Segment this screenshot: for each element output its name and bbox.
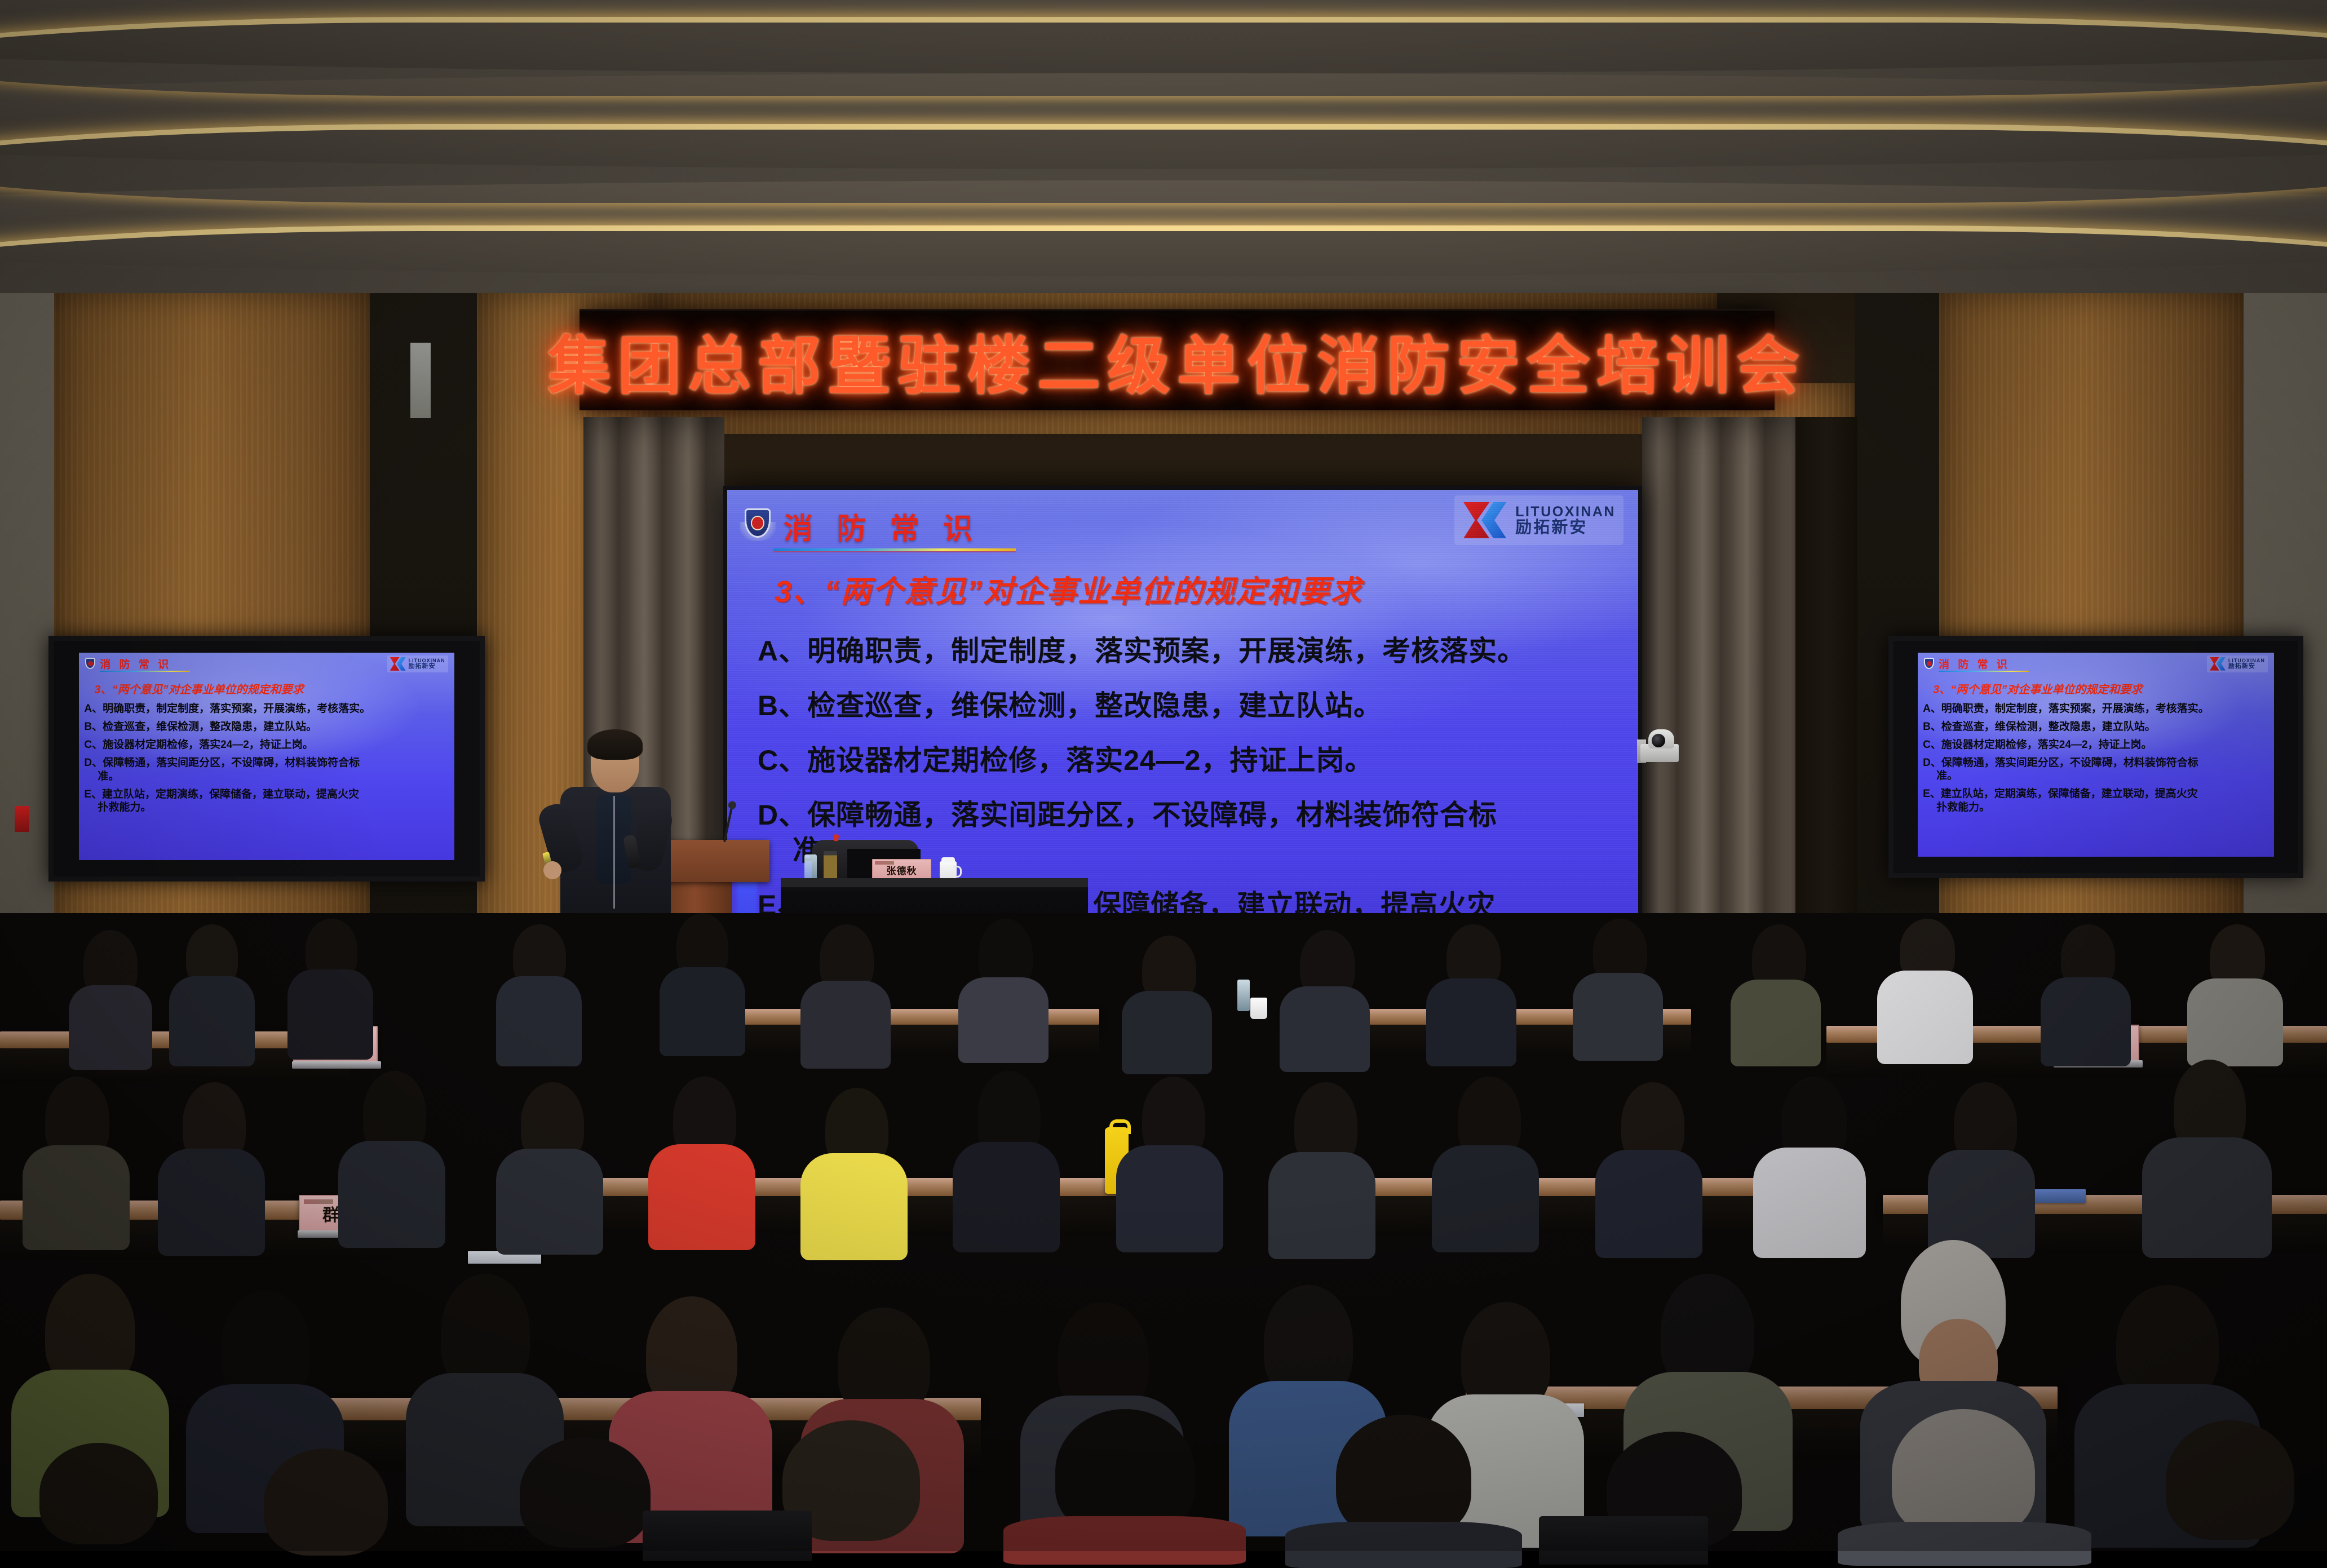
- chair-back: [643, 1511, 812, 1561]
- audience-member: [1426, 924, 1516, 1065]
- monitor-bullet-c: C、施设器材定期检修，落实24—2，持证上岗。: [1923, 738, 2269, 751]
- slide-bullet-a-text: A、明确职责，制定制度，落实预案，开展演练，考核落实。: [758, 635, 1526, 667]
- monitor-bullet-d-cont: 准。: [1936, 769, 2269, 782]
- placard-logo-icon: [304, 1199, 333, 1204]
- fire-department-badge-icon: [1923, 657, 1935, 671]
- monitor-section-heading: 3、“两个意见”对企事业单位的规定和要求: [94, 680, 449, 697]
- audience-member: [953, 1071, 1060, 1251]
- audience-member: [958, 919, 1049, 1060]
- water-bottle: [1237, 980, 1250, 1011]
- monitor-bullet-a: A、明确职责，制定制度，落实预案，开展演练，考核落实。: [1923, 702, 2269, 715]
- audience-member: [648, 1077, 755, 1246]
- monitor-header-rule: [1939, 671, 2029, 672]
- audience-member: [23, 1077, 130, 1246]
- audience-member: [1116, 1077, 1223, 1251]
- slide-header: 消 防 常 识 LITUOXINAN 励拓新安: [727, 490, 1638, 562]
- audience-member: [158, 1082, 265, 1251]
- desk-row: [1353, 1178, 1804, 1196]
- monitor-bullet-d: D、保障畅通，落实间距分区，不设障碍，材料装饰符合标 准。: [84, 756, 449, 782]
- audience-area: 机科股份 战投部 群部: [0, 913, 2327, 1551]
- fire-department-badge-icon: [84, 657, 96, 671]
- water-bottle: [804, 854, 817, 882]
- brand-logo: LITUOXINAN 励拓新安: [387, 655, 448, 672]
- audience-member: [800, 924, 891, 1065]
- slide-bullet-a: A、明确职责，制定制度，落实预案，开展演练，考核落实。: [758, 634, 1608, 669]
- fire-alarm-icon: [15, 806, 29, 832]
- brand-chinese-name: 励拓新安: [1515, 519, 1616, 536]
- audience-member: [1838, 1409, 2091, 1561]
- audience-member: [1877, 919, 1973, 1065]
- brand-chevron-icon: [1462, 500, 1507, 541]
- audience-member: [220, 1449, 434, 1561]
- audience-member: [800, 1088, 908, 1257]
- audience-member: [1003, 1409, 1246, 1556]
- monitor-bullet-b: B、检查巡查，维保检测，整改隐患，建立队站。: [84, 720, 449, 733]
- brand-chevron-icon: [390, 657, 406, 671]
- audience-member: [1285, 1415, 1522, 1556]
- monitor-section-heading: 3、“两个意见”对企事业单位的规定和要求: [1933, 680, 2269, 697]
- monitor-bullet-e: E、建立队站，定期演练，保障储备，建立联动，提高火灾 扑救能力。: [84, 788, 449, 814]
- slide-bullet-b-text: B、检查巡查，维保检测，整改隐患，建立队站。: [758, 690, 1382, 721]
- slide-bullet-b: B、检查巡查，维保检测，整改隐患，建立队站。: [758, 688, 1608, 724]
- audience-member: [2041, 924, 2131, 1065]
- ptz-camera-icon: [1640, 728, 1687, 763]
- curtain-edge: [1795, 417, 1857, 986]
- audience-member: [169, 924, 254, 1065]
- slide-bullet-c-text: C、施设器材定期检修，落实24—2，持证上岗。: [758, 745, 1374, 776]
- monitor-header-title: 消 防 常 识: [100, 656, 171, 671]
- audience-member: [496, 924, 581, 1065]
- slide-header-title: 消 防 常 识: [784, 505, 980, 547]
- led-banner: 集团总部暨驻楼二级单位消防安全培训会: [579, 309, 1775, 410]
- ceiling: [0, 0, 2327, 307]
- brand-chinese-name: 励拓新安: [409, 663, 445, 670]
- brand-chinese-name: 励拓新安: [2228, 663, 2265, 670]
- audience-member: [68, 930, 152, 1065]
- head-table-name-text: 张德秋: [887, 863, 917, 877]
- wall-pillar-left: [0, 293, 54, 958]
- audience-member: [1122, 936, 1212, 1071]
- thermos-cup: [824, 851, 837, 882]
- audience-member: [1280, 930, 1370, 1071]
- slide-section-heading: 3、“两个意见”对企事业单位的规定和要求: [775, 566, 1608, 611]
- audience-member: [1928, 1082, 2035, 1257]
- slide-header-rule: [773, 548, 1016, 551]
- audience-member: [287, 919, 372, 1060]
- side-monitor-right: 消 防 常 识 LITUOXINAN 励拓新安 3、“两个意见”对企事业单位的规…: [1888, 636, 2303, 878]
- head-table-name-placard: 张德秋: [872, 859, 931, 880]
- slide-bullet-c: C、施设器材定期检修，落实24—2，持证上岗。: [758, 743, 1608, 778]
- slide-bullet-d-text: D、保障畅通，落实间距分区，不设障碍，材料装饰符合标: [758, 799, 1497, 831]
- monitor-bullet-e: E、建立队站，定期演练，保障储备，建立联动，提高火灾 扑救能力。: [1923, 787, 2269, 813]
- brand-english-name: LITUOXINAN: [1515, 504, 1616, 519]
- placard-logo-icon: [875, 861, 894, 865]
- side-monitor-left-content: 消 防 常 识 LITUOXINAN 励拓新安 3、“两个意见”对企事业单位的规…: [79, 653, 454, 860]
- brand-logo: LITUOXINAN 励拓新安: [1454, 495, 1623, 545]
- monitor-bullet-a: A、明确职责，制定制度，落实预案，开展演练，考核落实。: [84, 702, 449, 715]
- audience-member: [1573, 919, 1663, 1060]
- audience-member: [1731, 924, 1821, 1065]
- audience-member: [2120, 1420, 2327, 1561]
- monitor-bullet-b: B、检查巡查，维保检测，整改隐患，建立队站。: [1923, 720, 2269, 733]
- audience-member: [660, 913, 744, 1054]
- audience-member: [1595, 1082, 1702, 1257]
- chair-back: [1539, 1516, 1708, 1565]
- brand-logo: LITUOXINAN 励拓新安: [2207, 655, 2268, 672]
- audience-member: [1268, 1082, 1375, 1257]
- monitor-bullet-d-text: D、保障畅通，落实间距分区，不设障碍，材料装饰符合标: [1923, 757, 2198, 769]
- monitor-bullet-e-cont: 扑救能力。: [98, 801, 449, 814]
- conference-hall-scene: 集团总部暨驻楼二级单位消防安全培训会 消 防 常 识 LITUOXINAN: [0, 0, 2327, 1551]
- audience-member: [496, 1082, 603, 1251]
- stage-curtain-right: [1642, 417, 1795, 981]
- monitor-header-rule: [100, 671, 190, 672]
- paper-cup: [1250, 998, 1267, 1019]
- side-monitor-right-content: 消 防 常 识 LITUOXINAN 励拓新安 3、“两个意见”对企事业单位的规…: [1918, 653, 2274, 857]
- audience-member: [1432, 1077, 1539, 1251]
- monitor-bullet-c: C、施设器材定期检修，落实24—2，持证上岗。: [84, 738, 449, 751]
- audience-member: [2142, 1060, 2272, 1257]
- desk-front: [1353, 1196, 1804, 1234]
- audience-member: [2187, 924, 2283, 1065]
- monitor-bullet-e-text: E、建立队站，定期演练，保障储备，建立联动，提高火灾: [1923, 788, 2198, 800]
- led-banner-text: 集团总部暨驻楼二级单位消防安全培训会: [548, 315, 1806, 406]
- tea-mug: [940, 861, 957, 879]
- monitor-bullet-d-text: D、保障畅通，落实间距分区，不设障碍，材料装饰符合标: [84, 757, 360, 769]
- audience-member: [338, 1071, 445, 1246]
- fire-department-badge-icon: [740, 506, 776, 546]
- monitor-bullet-d-cont: 准。: [98, 770, 449, 783]
- side-monitor-left: 消 防 常 识 LITUOXINAN 励拓新安 3、“两个意见”对企事业单位的规…: [48, 636, 485, 882]
- audience-member: [1753, 1077, 1866, 1257]
- monitor-bullet-d: D、保障畅通，落实间距分区，不设障碍，材料装饰符合标 准。: [1923, 756, 2269, 782]
- brand-chevron-icon: [2210, 657, 2226, 671]
- audience-member: [0, 1443, 203, 1556]
- monitor-bullet-e-cont: 扑救能力。: [1936, 801, 2269, 814]
- wall-light-fixture: [410, 343, 431, 418]
- monitor-bullet-e-text: E、建立队站，定期演练，保障储备，建立联动，提高火灾: [84, 789, 359, 800]
- monitor-header-title: 消 防 常 识: [1939, 656, 2010, 671]
